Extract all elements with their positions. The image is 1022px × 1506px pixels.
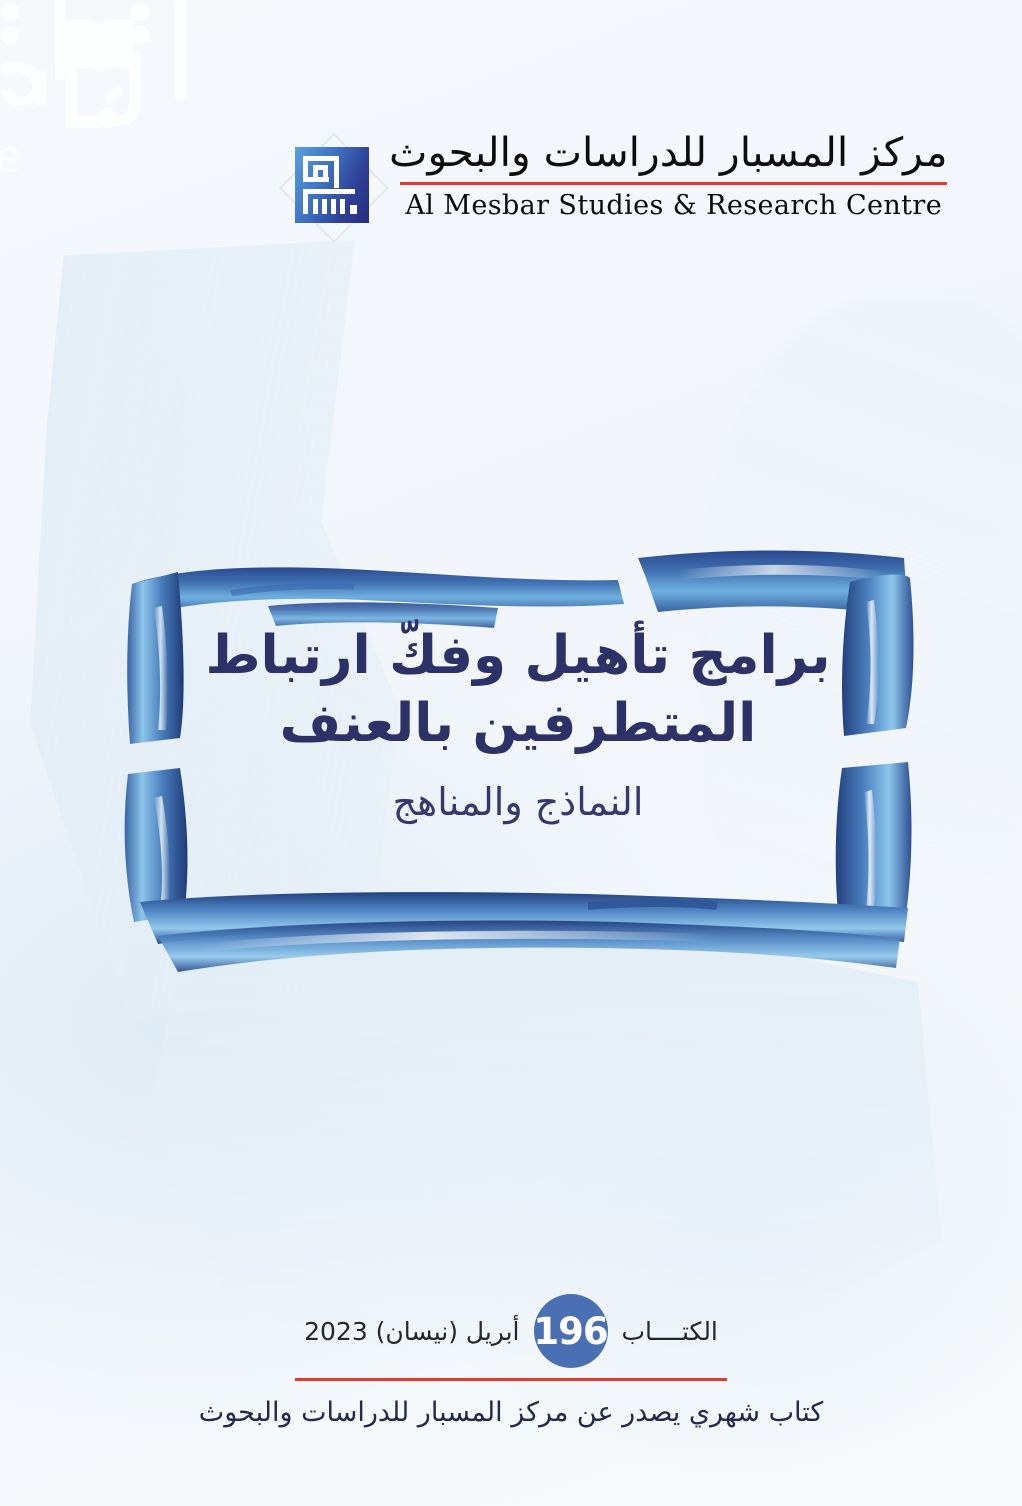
cover-footer: الكتــــاب 196 أبريل (نيسان) 2023 كتاب ش… <box>0 1294 1022 1428</box>
issue-date: أبريل (نيسان) 2023 <box>304 1317 519 1346</box>
kufic-diamond-emblem-icon <box>278 132 386 240</box>
logo-divider-rule <box>400 182 947 185</box>
publisher-logo: مركز المسبار للدراسات والبحوث Al Mesbar … <box>278 126 848 251</box>
open-book-icon <box>64 19 134 72</box>
title-text-container: برامج تأهيل وفكّ ارتباط المتطرفين بالعنف… <box>206 622 830 894</box>
footer-note: كتاب شهري يصدر عن مركز المسبار للدراسات … <box>199 1397 823 1428</box>
kufic-pattern <box>295 147 369 223</box>
book-title: برامج تأهيل وفكّ ارتباط المتطرفين بالعنف <box>205 622 830 758</box>
watermark-site-label: altibrah.ae <box>0 132 22 183</box>
book-cover: altibrah.ae altibrah.ae التبرة <box>0 0 1022 1506</box>
title-block: برامج تأهيل وفكّ ارتباط المتطرفين بالعنف… <box>118 530 918 980</box>
book-title-line1: برامج تأهيل وفكّ ارتباط <box>205 625 830 686</box>
altibrah-watermark: altibrah.ae altibrah.ae التبرة <box>0 0 250 185</box>
publisher-name-english: Al Mesbar Studies & Research Centre <box>400 191 947 221</box>
issue-row: الكتــــاب 196 أبريل (نيسان) 2023 <box>304 1294 718 1368</box>
issue-number-badge: 196 <box>534 1294 608 1368</box>
publisher-name-arabic: مركز المسبار للدراسات والبحوث <box>389 128 947 178</box>
book-subtitle: النماذج والمناهج <box>393 778 644 827</box>
book-title-line2: المتطرفين بالعنف <box>205 690 830 758</box>
footer-divider-rule <box>295 1378 727 1381</box>
issue-label: الكتــــاب <box>622 1317 718 1346</box>
